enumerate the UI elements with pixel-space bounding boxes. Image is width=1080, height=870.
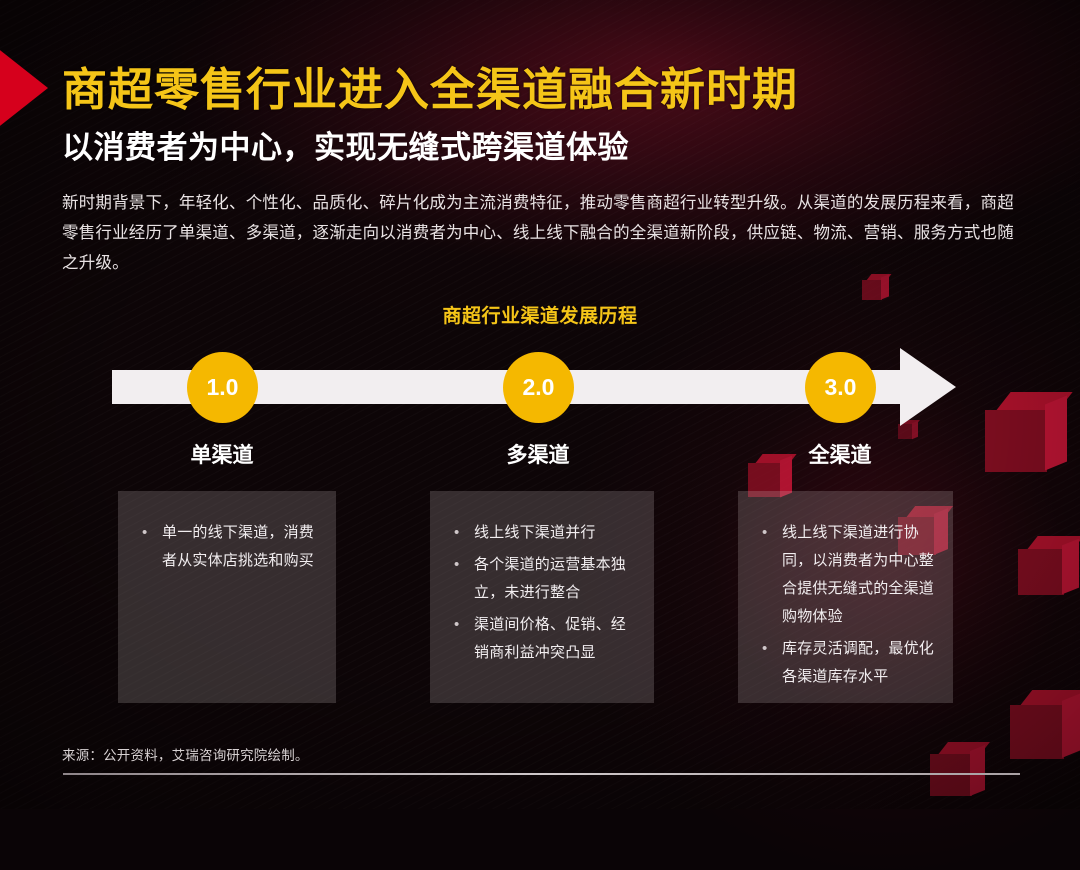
source-note: 来源：公开资料，艾瑞咨询研究院绘制。	[62, 744, 309, 764]
list-item: 库存灵活调配，最优化各渠道库存水平	[756, 635, 937, 691]
page-title: 商超零售行业进入全渠道融合新时期	[62, 53, 798, 118]
stage-2-bullet-list: 线上线下渠道并行 各个渠道的运营基本独立，未进行整合 渠道间价格、促销、经销商利…	[448, 519, 638, 667]
page-subtitle: 以消费者为中心，实现无缝式跨渠道体验	[62, 122, 629, 167]
stage-1-bullet-list: 单一的线下渠道，消费者从实体店挑选和购买	[136, 519, 320, 575]
timeline-node-1[interactable]: 1.0	[187, 352, 258, 423]
stage-card-1: 单一的线下渠道，消费者从实体店挑选和购买	[118, 491, 336, 703]
timeline-node-2-value: 2.0	[523, 374, 555, 401]
stage-label-3: 全渠道	[740, 439, 940, 469]
stage-card-3: 线上线下渠道进行协同，以消费者为中心整合提供无缝式的全渠道购物体验 库存灵活调配…	[738, 491, 953, 703]
timeline-node-3-value: 3.0	[825, 374, 857, 401]
list-item: 线上线下渠道进行协同，以消费者为中心整合提供无缝式的全渠道购物体验	[756, 519, 937, 631]
stage-3-bullet-list: 线上线下渠道进行协同，以消费者为中心整合提供无缝式的全渠道购物体验 库存灵活调配…	[756, 519, 937, 691]
timeline-arrow-head-icon	[900, 348, 956, 426]
stage-label-2: 多渠道	[438, 439, 638, 469]
title-arrow-marker-icon	[0, 47, 48, 129]
list-item: 单一的线下渠道，消费者从实体店挑选和购买	[136, 519, 320, 575]
footer-divider	[63, 773, 1020, 775]
chart-title: 商超行业渠道发展历程	[0, 301, 1080, 328]
list-item: 各个渠道的运营基本独立，未进行整合	[448, 551, 638, 607]
timeline-node-3[interactable]: 3.0	[805, 352, 876, 423]
list-item: 线上线下渠道并行	[448, 519, 638, 547]
intro-paragraph: 新时期背景下，年轻化、个性化、品质化、碎片化成为主流消费特征，推动零售商超行业转…	[62, 188, 1016, 278]
timeline-node-2[interactable]: 2.0	[503, 352, 574, 423]
stage-card-2: 线上线下渠道并行 各个渠道的运营基本独立，未进行整合 渠道间价格、促销、经销商利…	[430, 491, 654, 703]
timeline-node-1-value: 1.0	[207, 374, 239, 401]
list-item: 渠道间价格、促销、经销商利益冲突凸显	[448, 611, 638, 667]
stage-label-1: 单渠道	[122, 439, 322, 469]
